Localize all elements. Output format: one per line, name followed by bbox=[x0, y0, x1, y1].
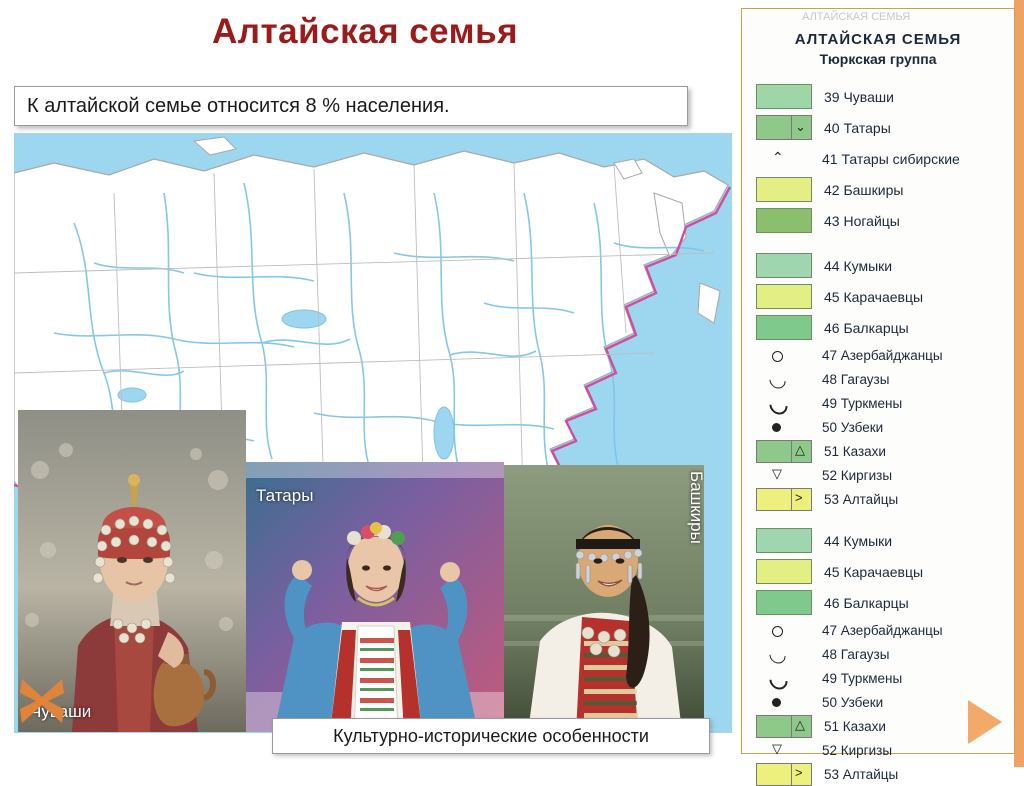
legend-label-51: 51 Казахи bbox=[824, 444, 886, 459]
legend-swatch-44b bbox=[756, 528, 812, 553]
legend-swatch-46b bbox=[756, 590, 812, 615]
legend-ghost-header: АЛТАЙСКАЯ СЕМЬЯ bbox=[802, 11, 910, 23]
legend-label-51b: 51 Казахи bbox=[824, 719, 886, 734]
legend-swatch-51b: △ bbox=[756, 715, 812, 738]
legend-label-42: 42 Башкиры bbox=[824, 182, 903, 198]
legend-swatch-53: > bbox=[756, 488, 812, 511]
legend-swatch-46 bbox=[756, 315, 812, 340]
subtitle-text: К алтайской семье относится 8 % населени… bbox=[15, 95, 450, 118]
legend-label-47: 47 Азербайджанцы bbox=[822, 348, 943, 363]
legend-row: 49 Туркмены bbox=[742, 391, 1014, 415]
legend-label-40: 40 Татары bbox=[824, 120, 891, 136]
legend-row: 45 Карачаевцы bbox=[742, 556, 1014, 587]
legend-label-52b: 52 Киргизы bbox=[822, 743, 892, 758]
triangle-down-icon: ▽ bbox=[756, 464, 810, 487]
arc-icon bbox=[756, 643, 810, 666]
legend-label-50b: 50 Узбеки bbox=[822, 695, 883, 710]
legend-swatch-45b bbox=[756, 559, 812, 584]
legend-label-45: 45 Карачаевцы bbox=[824, 289, 923, 305]
legend-row: 46 Балкарцы bbox=[742, 312, 1014, 343]
arc-icon bbox=[756, 368, 810, 391]
legend-label-50: 50 Узбеки bbox=[822, 420, 883, 435]
legend-row: 48 Гагаузы bbox=[742, 367, 1014, 391]
bottom-caption-text: Культурно-исторические особенности bbox=[333, 726, 649, 747]
legend-label-41: 41 Татары сибирские bbox=[822, 151, 960, 167]
legend-row: 43 Ногайцы bbox=[742, 205, 1014, 236]
next-slide-arrow-icon[interactable] bbox=[968, 700, 1002, 744]
legend-swatch-42 bbox=[756, 177, 812, 202]
legend-row: 44 Кумыки bbox=[742, 250, 1014, 281]
dot-icon bbox=[756, 691, 810, 714]
legend-label-45b: 45 Карачаевцы bbox=[824, 564, 923, 580]
legend-swatch-45 bbox=[756, 284, 812, 309]
legend-row: ⌄ 40 Татары bbox=[742, 112, 1014, 143]
legend-row: 45 Карачаевцы bbox=[742, 281, 1014, 312]
photo-caption-tatar: Татары bbox=[256, 486, 313, 506]
legend-row: ⌃ 41 Татары сибирские bbox=[742, 143, 1014, 174]
legend-swatch-40: ⌄ bbox=[756, 115, 812, 140]
legend-label-43: 43 Ногайцы bbox=[824, 213, 900, 229]
legend-row: > 53 Алтайцы bbox=[742, 487, 1014, 511]
legend-label-44: 44 Кумыки bbox=[824, 258, 892, 274]
page-title: Алтайская семья bbox=[0, 12, 730, 52]
legend-row: 39 Чуваши bbox=[742, 81, 1014, 112]
legend-symbol-41: ⌃ bbox=[756, 147, 810, 170]
legend-label-49: 49 Туркмены bbox=[822, 396, 902, 411]
arc-bold-icon bbox=[756, 392, 810, 415]
circle-icon bbox=[756, 344, 810, 367]
close-icon[interactable] bbox=[14, 673, 70, 729]
legend-row: 47 Азербайджанцы bbox=[742, 618, 1014, 642]
legend-row: 42 Башкиры bbox=[742, 174, 1014, 205]
legend-panel: АЛТАЙСКАЯ СЕМЬЯ АЛТАЙСКАЯ СЕМЬЯ Тюркская… bbox=[741, 8, 1015, 754]
legend-label-53: 53 Алтайцы bbox=[824, 492, 898, 507]
subtitle-box: К алтайской семье относится 8 % населени… bbox=[14, 86, 688, 126]
legend-row: 49 Туркмены bbox=[742, 666, 1014, 690]
legend-label-49b: 49 Туркмены bbox=[822, 671, 902, 686]
dot-icon bbox=[756, 416, 810, 439]
legend-subtitle: Тюркская группа bbox=[742, 51, 1014, 67]
legend-label-48: 48 Гагаузы bbox=[822, 372, 889, 387]
legend-label-39: 39 Чуваши bbox=[824, 89, 894, 105]
legend-label-53b: 53 Алтайцы bbox=[824, 767, 898, 782]
legend-label-47b: 47 Азербайджанцы bbox=[822, 623, 943, 638]
triangle-down-icon: ▽ bbox=[756, 739, 810, 762]
legend-label-46: 46 Балкарцы bbox=[824, 320, 909, 336]
slide-root: Алтайская семья К алтайской семье относи… bbox=[0, 0, 1024, 767]
legend-row: 44 Кумыки bbox=[742, 525, 1014, 556]
photo-caption-bashkir: Башкиры bbox=[686, 471, 704, 544]
legend-label-52: 52 Киргизы bbox=[822, 468, 892, 483]
legend-row: 50 Узбеки bbox=[742, 415, 1014, 439]
legend-swatch-43 bbox=[756, 208, 812, 233]
legend-swatch-44 bbox=[756, 253, 812, 278]
circle-icon bbox=[756, 619, 810, 642]
legend-row: > 53 Алтайцы bbox=[742, 762, 1014, 786]
legend-row: ▽ 52 Киргизы bbox=[742, 463, 1014, 487]
legend-title: АЛТАЙСКАЯ СЕМЬЯ bbox=[742, 31, 1014, 48]
legend-label-48b: 48 Гагаузы bbox=[822, 647, 889, 662]
bottom-caption-box: Культурно-исторические особенности bbox=[272, 718, 710, 754]
legend-label-46b: 46 Балкарцы bbox=[824, 595, 909, 611]
legend-row: 47 Азербайджанцы bbox=[742, 343, 1014, 367]
legend-swatch-51: △ bbox=[756, 440, 812, 463]
photo-bashkir: Башкиры bbox=[504, 465, 704, 732]
legend-row: 46 Балкарцы bbox=[742, 587, 1014, 618]
legend-swatch-53b: > bbox=[756, 763, 812, 786]
right-edge-strip bbox=[1014, 0, 1024, 767]
legend-row: 48 Гагаузы bbox=[742, 642, 1014, 666]
photo-tatar: Татары bbox=[246, 462, 504, 732]
legend-label-44b: 44 Кумыки bbox=[824, 533, 892, 549]
arc-bold-icon bbox=[756, 667, 810, 690]
legend-swatch-39 bbox=[756, 84, 812, 109]
legend-row: △ 51 Казахи bbox=[742, 439, 1014, 463]
